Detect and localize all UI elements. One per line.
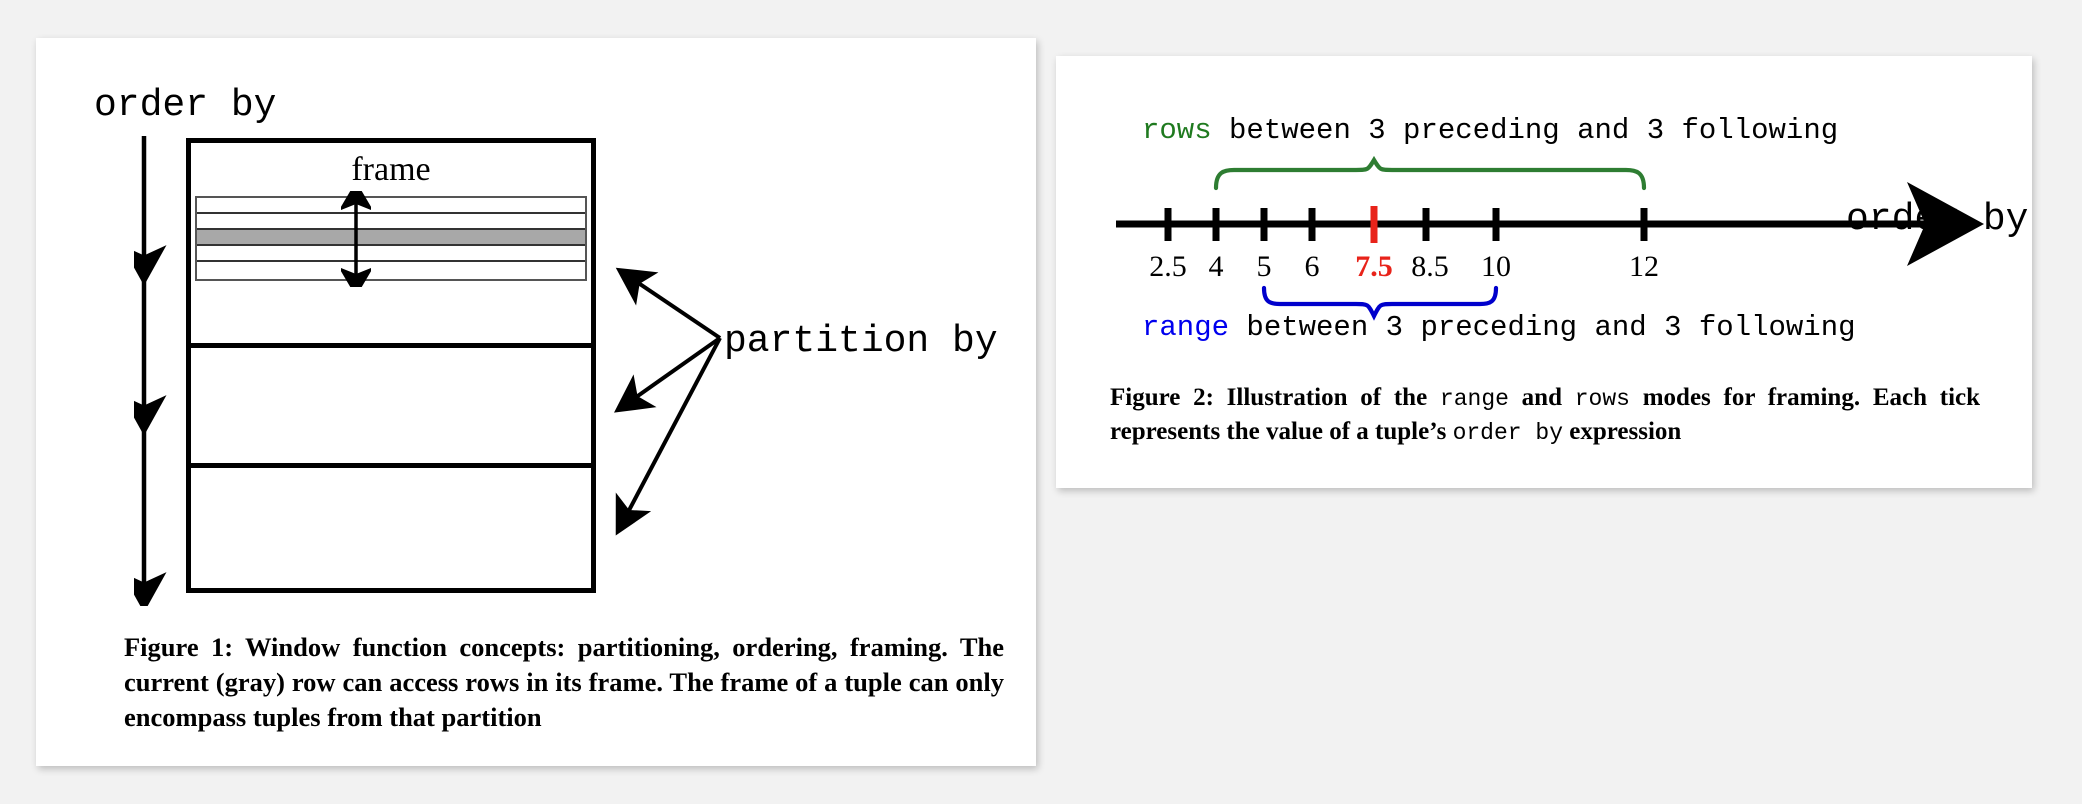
figure-2-card: rows between 3 preceding and 3 following	[1056, 56, 2032, 488]
tick-label-1: 4	[1209, 250, 1224, 283]
caption-part-1: Figure 2: Illustration of the	[1110, 384, 1440, 411]
caption-mono-order-by: order by	[1453, 420, 1563, 446]
frame-row-current	[197, 230, 585, 246]
frame-row	[197, 198, 585, 214]
caption-mono-range: range	[1440, 386, 1509, 412]
partition-divider	[191, 343, 591, 348]
figure-1-caption: Figure 1: Window function concepts: part…	[124, 630, 1004, 736]
rows-brace	[1216, 160, 1644, 188]
partition-by-arrows	[596, 238, 796, 638]
figure1-order-by-label: order by	[94, 84, 276, 127]
tick-label-2: 5	[1257, 250, 1272, 283]
partition-by-label: partition by	[724, 320, 998, 363]
partition-divider	[191, 463, 591, 468]
frame-row	[197, 214, 585, 230]
figure-1-card: order by frame	[36, 38, 1036, 766]
frame-row	[197, 262, 585, 278]
frame-row	[197, 246, 585, 262]
frame-extent-arrow	[341, 191, 371, 287]
tick-label-4-current: 7.5	[1355, 250, 1393, 283]
tick-labels: 2.5 4 5 6 7.5 8.5 10 12	[1149, 250, 1659, 283]
caption-mono-rows: rows	[1575, 386, 1630, 412]
rows-expression-rest: between 3 preceding and 3 following	[1212, 114, 1839, 147]
rows-expression-label: rows between 3 preceding and 3 following	[1142, 114, 1838, 147]
tick-label-7: 12	[1629, 250, 1659, 283]
figure2-order-by-axis-label: order by	[1846, 198, 2028, 241]
range-keyword: range	[1142, 311, 1229, 344]
range-expression-rest: between 3 preceding and 3 following	[1229, 311, 1856, 344]
frame-rows-group	[195, 196, 587, 281]
tick-label-0: 2.5	[1149, 250, 1187, 283]
order-by-direction-arrow	[134, 136, 174, 606]
frame-label: frame	[191, 151, 591, 189]
range-expression-label: range between 3 preceding and 3 followin…	[1142, 311, 1856, 344]
tick-label-6: 10	[1481, 250, 1511, 283]
rows-keyword: rows	[1142, 114, 1212, 147]
partition-table: frame	[186, 138, 596, 593]
caption-part-2: and	[1509, 384, 1575, 411]
tick-label-5: 8.5	[1411, 250, 1449, 283]
figure-2-caption: Figure 2: Illustration of the range and …	[1110, 381, 1980, 449]
tick-label-3: 6	[1305, 250, 1320, 283]
page-root: order by frame	[0, 0, 2082, 804]
caption-part-4: expression	[1563, 418, 1681, 445]
